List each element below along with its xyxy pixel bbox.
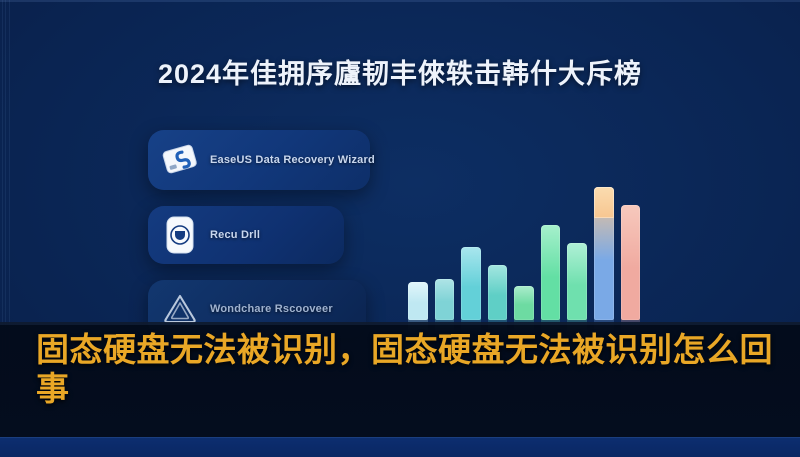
software-card-recudrill[interactable]: Recu Drll [148, 206, 344, 264]
bar-slot [408, 180, 428, 320]
chart-bar [567, 243, 587, 320]
bar-slot [514, 180, 534, 320]
chart-bar [461, 247, 481, 320]
chart-bar [408, 282, 428, 320]
page-title: 2024年佳拥序廬韧丰倈轶击韩什大斥榜 [0, 52, 800, 91]
chart-bar [621, 205, 641, 320]
software-card-label: Recu Drll [210, 229, 260, 241]
software-card-label: EaseUS Data Recovery Wizard [210, 154, 375, 166]
chart-bar [435, 279, 455, 320]
chart-bar [488, 265, 508, 320]
chart-bar [594, 187, 614, 320]
shield-app-icon [160, 215, 200, 255]
chart-bar [541, 225, 561, 320]
bar-slot [435, 180, 455, 320]
software-card-easeus[interactable]: EaseUS Data Recovery Wizard [148, 130, 370, 190]
bar-slot [461, 180, 481, 320]
footer-strip [0, 437, 800, 457]
bar-slot [488, 180, 508, 320]
bar-slot [621, 180, 641, 320]
bar-slot [594, 180, 614, 320]
screenshot-root: 2024年佳拥序廬韧丰倈轶击韩什大斥榜 EaseUS Data Recovery… [0, 0, 800, 457]
chart-bar-highlight-cap [594, 187, 614, 218]
bar-slot [567, 180, 587, 320]
chart-bar [514, 286, 534, 320]
bar-slot [541, 180, 561, 320]
software-card-list: EaseUS Data Recovery Wizard Recu Drll Wo… [148, 130, 388, 354]
headline-text: 固态硬盘无法被识别，固态硬盘无法被识别怎么回事 [36, 331, 776, 408]
bar-chart [408, 180, 640, 320]
top-hairline [0, 0, 800, 2]
disk-card-icon [160, 140, 200, 180]
software-card-label: Wondchare Rscooveer [210, 303, 333, 315]
